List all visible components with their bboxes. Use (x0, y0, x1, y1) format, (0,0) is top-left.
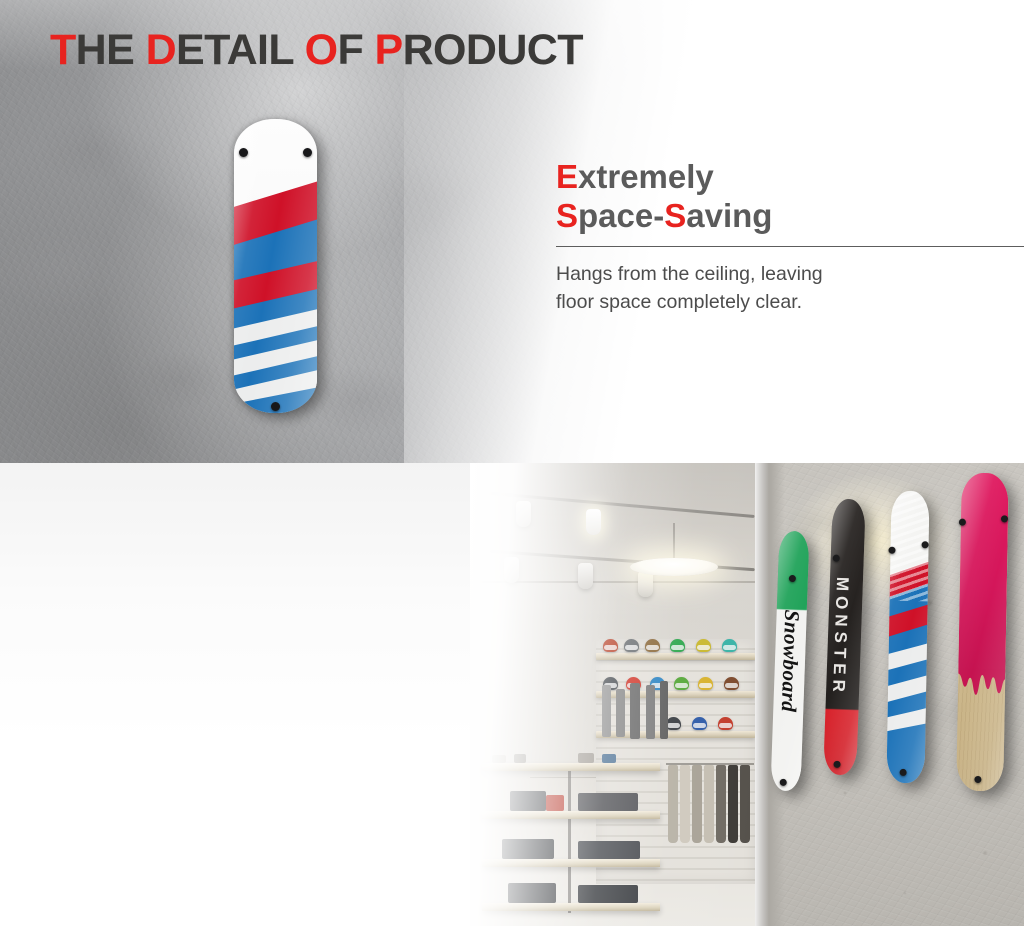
feature-body-space-saving: Hangs from the ceiling, leaving floor sp… (556, 260, 1024, 316)
title-seg-4: O (305, 26, 338, 74)
page-title: THE DETAIL OF PRODUCT (50, 26, 583, 75)
title-seg-0: T (50, 26, 76, 74)
feature-heading-space-saving: Extremely Space-Saving (556, 158, 1024, 236)
wall-board-3-pin-left (888, 547, 895, 554)
heading-a-seg-1: xtremely (578, 158, 714, 195)
heading-a-seg-0: E (556, 158, 578, 195)
bottom-panel: Snowboard MONSTER (0, 463, 1024, 926)
wall-board-3-gloss (886, 491, 929, 784)
wall-board-4-pin-bottom (974, 776, 981, 783)
wall-board-striped (886, 491, 929, 784)
top-panel-concrete-wall: THE DETAIL OF PRODUCT Extremely Space-Sa… (0, 0, 1024, 463)
heading-a-seg-5: aving (686, 197, 772, 234)
product-detail-infographic: THE DETAIL OF PRODUCT Extremely Space-Sa… (0, 0, 1024, 926)
store-interior-photo (470, 463, 755, 926)
right-concrete-wall: Snowboard MONSTER (755, 463, 1024, 926)
hero-snowboard-body (234, 119, 317, 413)
wall-board-1-label: Snowboard (776, 609, 805, 712)
title-seg-2: D (146, 26, 176, 74)
heading-a-seg-4: S (664, 197, 686, 234)
mount-pin-bottom (271, 402, 280, 411)
wall-board-pink-drip (956, 473, 1009, 792)
feature-heading-line-1: Extremely (556, 158, 1024, 197)
title-seg-6: P (375, 26, 403, 74)
hero-snowboard-gloss (234, 119, 317, 413)
title-seg-7: RODUCT (403, 26, 583, 74)
feature-block-space-saving: Extremely Space-Saving Hangs from the ce… (556, 158, 1024, 316)
feature-body-a-line-1: Hangs from the ceiling, leaving (556, 260, 1024, 288)
title-seg-3: ETAIL (176, 26, 305, 74)
mount-pin-top-right (303, 148, 312, 157)
wall-board-4-pin-right (1001, 515, 1008, 522)
feature-divider-space-saving (556, 246, 1024, 247)
mount-pin-top-left (239, 148, 248, 157)
feature-body-a-line-2: floor space completely clear. (556, 288, 1024, 316)
wall-board-3-body (886, 491, 929, 784)
right-wall-left-fade (755, 463, 769, 926)
heading-a-seg-3: pace- (578, 197, 664, 234)
store-left-white-fade (470, 463, 755, 926)
feature-heading-line-2: Space-Saving (556, 197, 1024, 236)
wall-board-3-pin-right (922, 541, 929, 548)
heading-a-seg-2: S (556, 197, 578, 234)
title-seg-5: F (337, 26, 374, 74)
title-seg-1: HE (76, 26, 146, 74)
hero-snowboard (234, 119, 317, 413)
wall-board-2-label: MONSTER (827, 577, 851, 698)
